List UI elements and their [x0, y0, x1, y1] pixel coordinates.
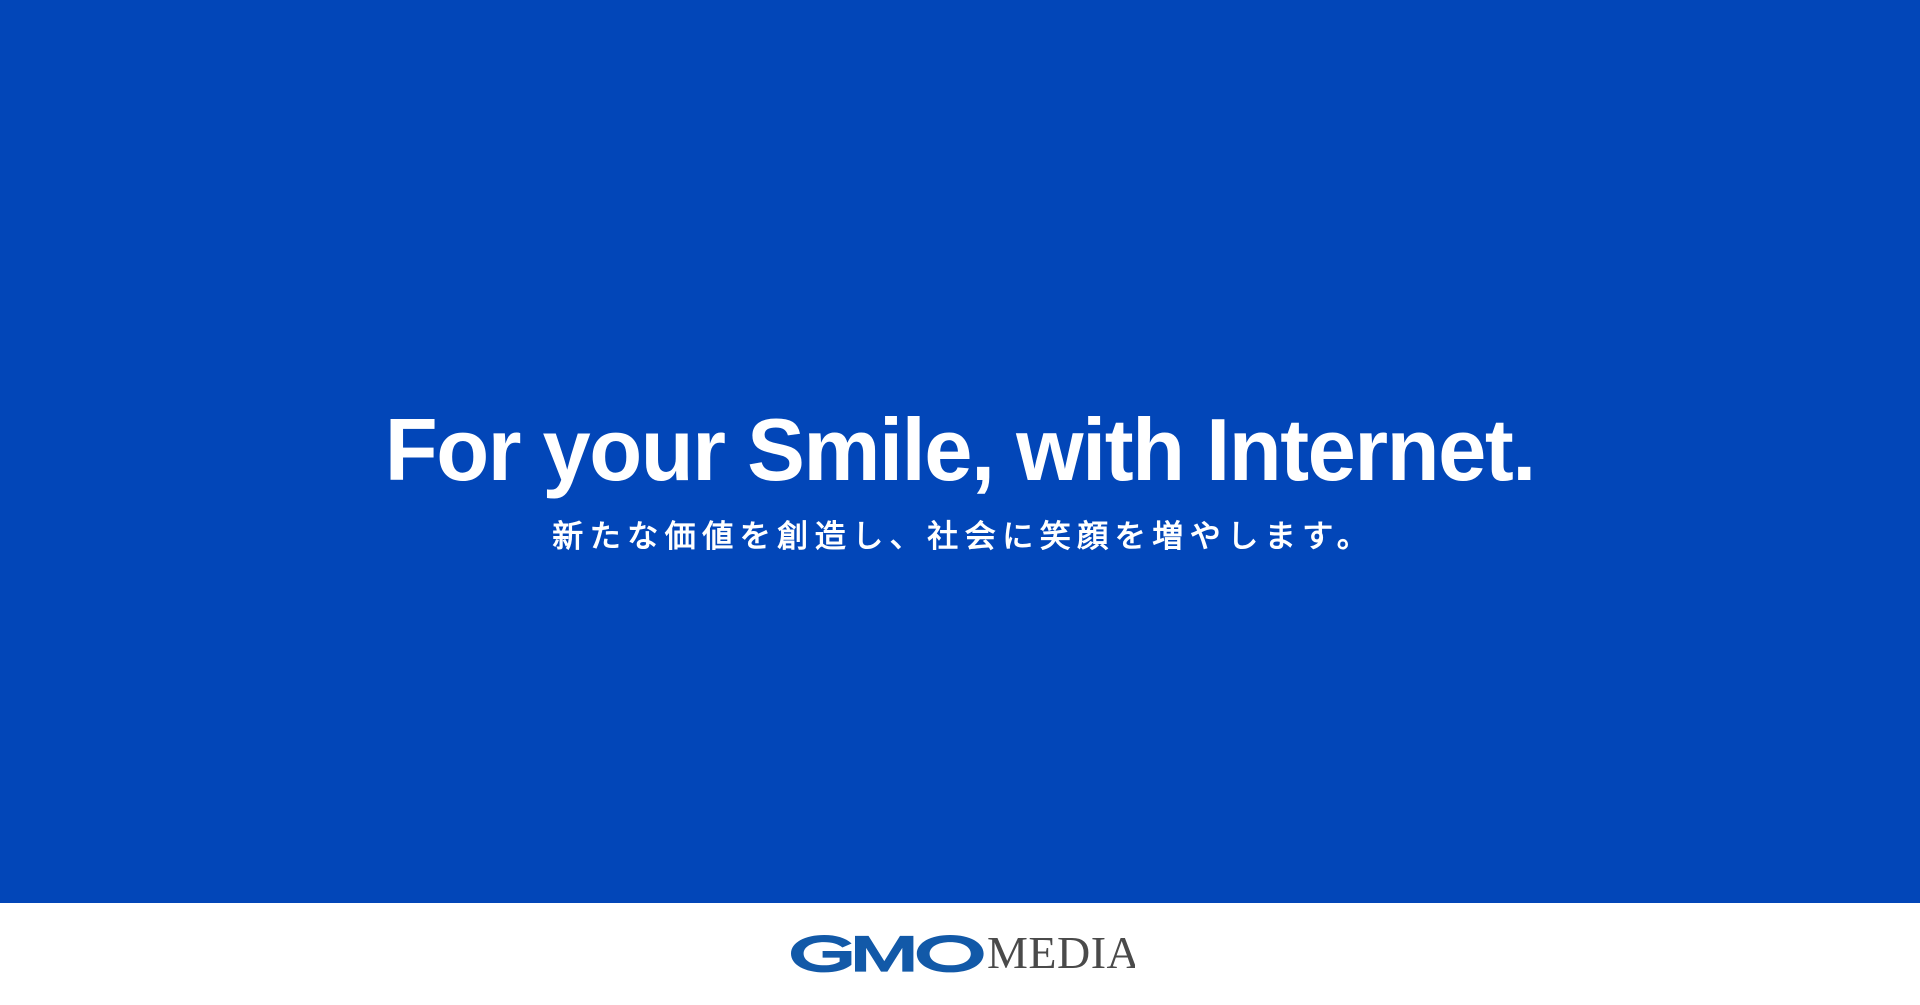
gmo-mark-icon [789, 933, 985, 975]
media-wordmark-text: MEDIA [987, 933, 1135, 975]
page-title: For your Smile, with Internet. [385, 406, 1535, 494]
page-subtitle: 新たな価値を創造し、社会に笑顔を増やします。 [546, 520, 1374, 554]
hero-text-block: For your Smile, with Internet. 新たな価値を創造し… [0, 406, 1920, 554]
gmo-media-logo: MEDIA [789, 934, 1135, 974]
slide-root: For your Smile, with Internet. 新たな価値を創造し… [0, 0, 1920, 1005]
footer-bar: MEDIA [0, 903, 1920, 1005]
hero-section: For your Smile, with Internet. 新たな価値を創造し… [0, 0, 1920, 903]
media-wordmark: MEDIA [985, 933, 1135, 975]
